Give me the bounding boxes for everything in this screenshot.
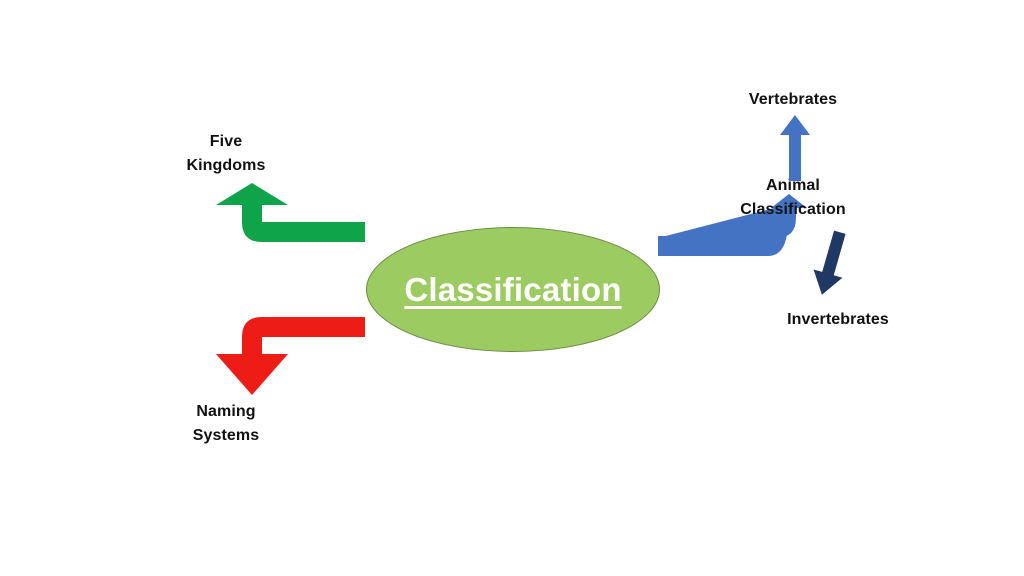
label-invertebrates: Invertebrates [758,308,918,332]
label-vertebrates: Vertebrates [713,88,873,112]
center-node-label: Classification [404,272,621,308]
arrow-invertebrates [806,228,856,298]
arrow-five-kingdoms [210,180,370,270]
arrow-vertebrates [778,113,812,183]
diagram-canvas: Five Kingdoms Naming Systems Classificat… [0,0,1024,576]
arrow-naming-systems [210,310,370,400]
label-five-kingdoms: Five Kingdoms [156,130,296,178]
arrow-animal-classification [656,222,806,267]
center-node[interactable]: Classification [366,227,660,352]
label-naming-systems: Naming Systems [156,400,296,448]
